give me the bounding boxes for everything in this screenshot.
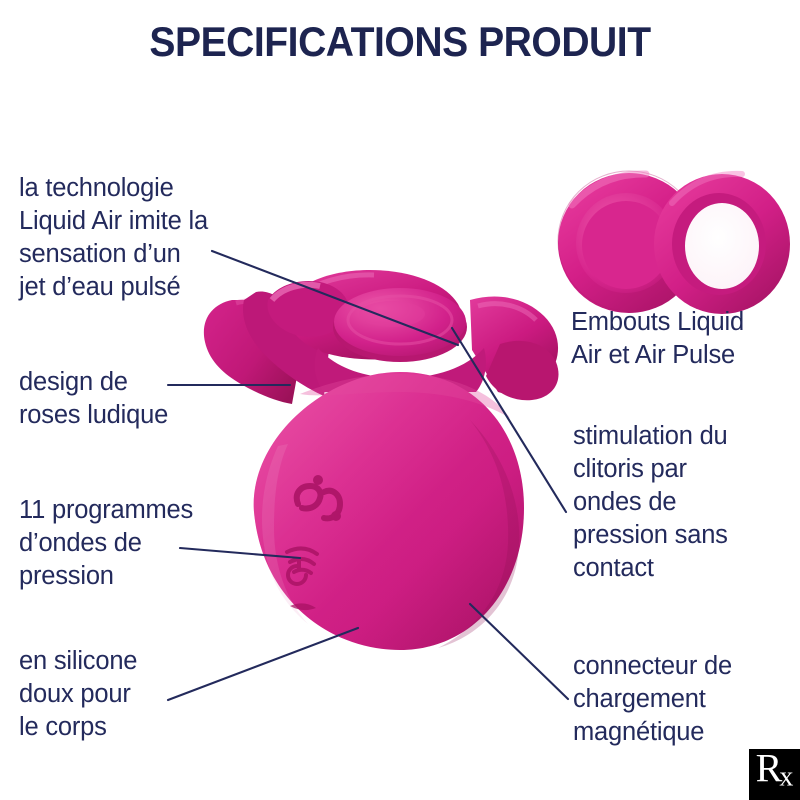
tips-caption: Embouts Liquid Air et Air Pulse	[571, 306, 800, 372]
callout-magnetic-connector: connecteur de chargement magnétique	[573, 650, 800, 749]
rx-logo: Rx	[749, 749, 800, 800]
rx-logo-text: Rx	[756, 749, 794, 797]
liquid-air-tip	[558, 171, 700, 313]
rx-logo-x: x	[779, 761, 793, 792]
callout-stimulation: stimulation du clitoris par ondes de pre…	[573, 420, 798, 585]
air-pulse-tip	[654, 174, 790, 314]
connector-line-stimulation	[452, 328, 566, 512]
satisfyer-logo-emboss	[297, 475, 341, 521]
connector-line-connector	[470, 604, 568, 699]
rx-logo-r: R	[756, 749, 783, 790]
power-wave-icon-emboss	[287, 548, 317, 584]
page-title: SPECIFICATIONS PRODUIT	[28, 18, 772, 66]
callout-silicone: en silicone doux pour le corps	[19, 645, 269, 744]
callout-design: design de roses ludique	[19, 366, 269, 432]
magnetic-charging-contact-emboss	[290, 603, 316, 610]
rose-product	[204, 270, 559, 650]
infographic-canvas: SPECIFICATIONS PRODUIT	[0, 0, 800, 800]
callout-programs: 11 programmes d’ondes de pression	[19, 494, 279, 593]
callout-liquid-air: la technologie Liquid Air imite la sensa…	[19, 172, 289, 304]
